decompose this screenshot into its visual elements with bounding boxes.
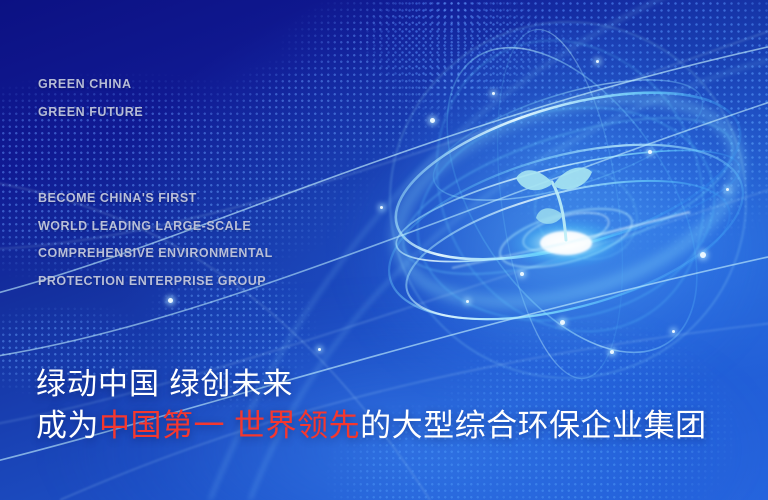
particle [560, 320, 565, 325]
mission-block: BECOME CHINA'S FIRST WORLD LEADING LARGE… [38, 185, 273, 295]
headline-line-2: 成为中国第一 世界领先的大型综合环保企业集团 [36, 405, 707, 447]
tagline-line-2: GREEN FUTURE [38, 98, 143, 126]
headline-prefix: 成为 [36, 408, 99, 443]
particle [318, 348, 321, 351]
mission-line-3: COMPREHENSIVE ENVIRONMENTAL [38, 240, 273, 268]
particle [520, 272, 524, 276]
headline-line-1: 绿动中国 绿创未来 [36, 365, 707, 405]
particle [700, 252, 706, 258]
particle [648, 150, 652, 154]
headline-suffix: 的大型综合环保企业集团 [360, 408, 707, 443]
particle [168, 298, 173, 303]
particle [726, 188, 729, 191]
headline-block: 绿动中国 绿创未来 成为中国第一 世界领先的大型综合环保企业集团 [36, 365, 707, 447]
tagline-block: GREEN CHINA GREEN FUTURE [38, 70, 143, 126]
headline-accent: 中国第一 世界领先 [99, 408, 360, 443]
mission-line-1: BECOME CHINA'S FIRST [38, 185, 273, 213]
particle [596, 60, 599, 63]
particle [672, 330, 675, 333]
particle [380, 206, 383, 209]
particle [430, 118, 435, 123]
particle [466, 300, 469, 303]
mission-line-2: WORLD LEADING LARGE-SCALE [38, 213, 273, 241]
particle [492, 92, 495, 95]
tagline-line-1: GREEN CHINA [38, 70, 143, 98]
particle [610, 350, 614, 354]
mission-line-4: PROTECTION ENTERPRISE GROUP [38, 268, 273, 296]
promotional-banner: GREEN CHINA GREEN FUTURE BECOME CHINA'S … [0, 0, 768, 500]
